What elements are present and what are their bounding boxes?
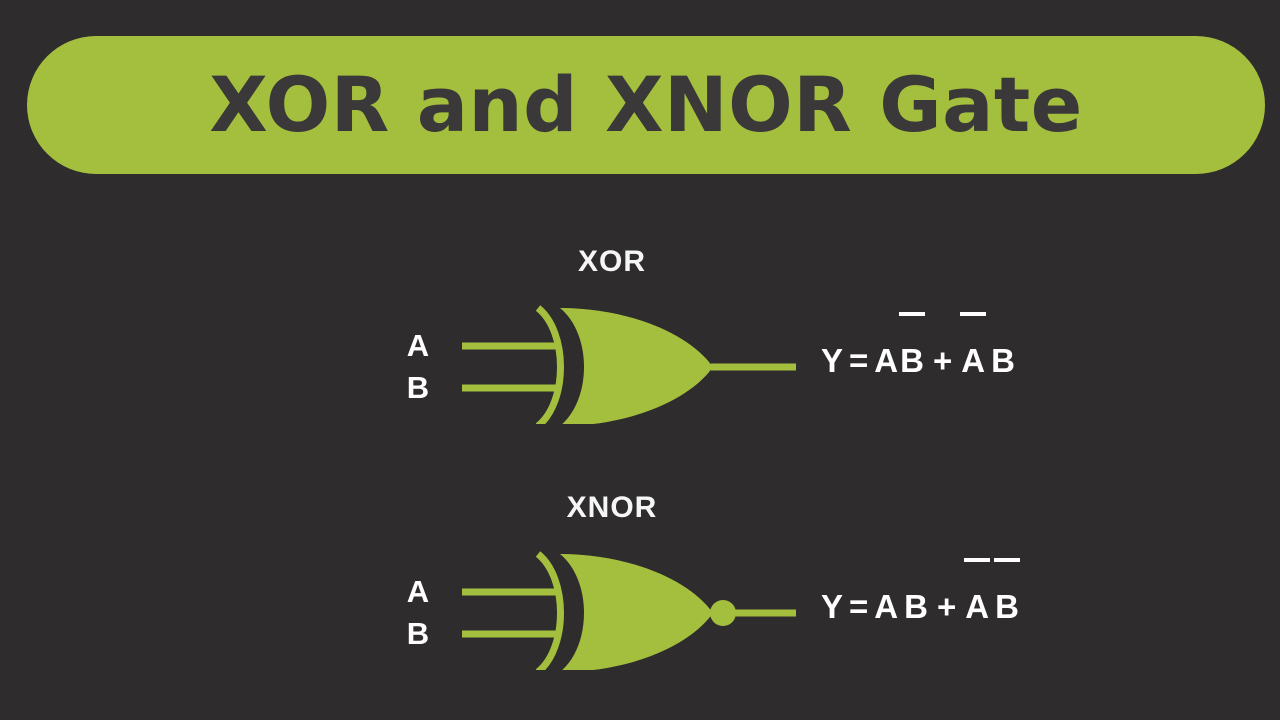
xor-gate-graphic: A B	[396, 284, 816, 424]
page-title: XOR and XNOR Gate	[209, 67, 1083, 143]
xnor-extra-arc	[538, 554, 561, 670]
title-banner: XOR and XNOR Gate	[27, 36, 1265, 174]
slide-canvas: XOR and XNOR Gate XOR A B Y = A B + A	[0, 0, 1280, 720]
xnor-inversion-bubble-icon	[710, 600, 736, 626]
xor-boolean-equation: Y = A B + A B	[821, 342, 1021, 380]
xnor-gate-label: XNOR	[0, 491, 1224, 525]
xnor-gate-diagram: XNOR A B Y = A B + A B	[0, 478, 1280, 678]
xor-eq-token-eq: =	[849, 342, 868, 380]
xnor-eq-token-plus: +	[937, 588, 956, 626]
xnor-input-b-label: B	[407, 616, 429, 651]
xor-eq-token-b1-bar: B	[900, 342, 924, 380]
xnor-boolean-equation: Y = A B + A B	[821, 588, 1025, 626]
xor-eq-token-a2-bar: A	[961, 342, 985, 380]
xor-extra-arc	[538, 308, 561, 424]
xnor-eq-token-b2-bar: B	[995, 588, 1019, 626]
xnor-gate-graphic: A B	[396, 530, 816, 670]
xor-eq-token-y: Y	[821, 342, 843, 380]
xor-eq-token-b2: B	[991, 342, 1015, 380]
xnor-eq-token-a1: A	[874, 588, 898, 626]
xnor-eq-token-a2-bar: A	[965, 588, 989, 626]
xor-eq-token-plus: +	[933, 342, 952, 380]
xor-eq-token-a1: A	[874, 342, 898, 380]
xor-input-a-label: A	[407, 328, 429, 363]
xnor-input-a-label: A	[407, 574, 429, 609]
xnor-eq-token-b1: B	[904, 588, 928, 626]
xor-gate-label: XOR	[0, 245, 1224, 279]
xor-gate-body	[560, 308, 713, 424]
xnor-gate-body	[560, 554, 713, 670]
xor-gate-diagram: XOR A B Y = A B + A B	[0, 232, 1280, 432]
xnor-eq-token-y: Y	[821, 588, 843, 626]
xnor-eq-token-eq: =	[849, 588, 868, 626]
xor-input-b-label: B	[407, 370, 429, 405]
